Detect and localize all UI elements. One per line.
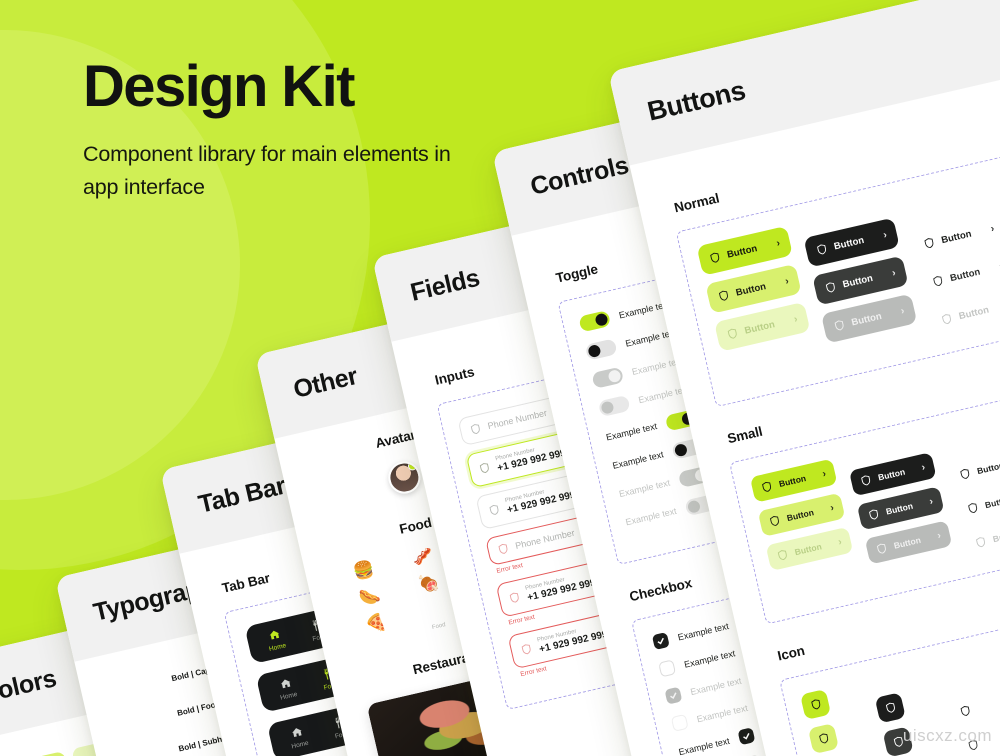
design-kit-poster: Design Kit Component library for main el… xyxy=(0,0,1000,756)
icon-button-ghost[interactable] xyxy=(949,696,980,727)
button-small-secondary-disabled: Button › xyxy=(865,520,953,564)
buttons-small-column-ghost: Button › Button › Button › xyxy=(948,446,1000,558)
buttons-column-ghost: Button › Button › Button › xyxy=(911,211,1000,337)
tab-home[interactable]: Home xyxy=(276,722,320,753)
shield-icon xyxy=(809,697,822,711)
shield-icon xyxy=(923,236,936,250)
checkbox-label: Example text xyxy=(696,702,749,723)
food-icon-burger[interactable]: 🍔 xyxy=(351,560,375,581)
chevron-right-icon: › xyxy=(891,267,897,278)
checkbox-disabled-checked xyxy=(664,687,682,705)
card-other-title: Other xyxy=(291,361,361,404)
shield-icon xyxy=(815,242,828,256)
shield-icon xyxy=(824,280,837,294)
card-controls-title: Controls xyxy=(528,151,632,202)
buttons-column-green: Button › Button › Button › xyxy=(697,226,811,352)
food-icon-hotdog[interactable]: 🌭 xyxy=(357,586,381,607)
avatar[interactable] xyxy=(385,458,423,496)
button-label: Button xyxy=(778,471,817,489)
chevron-right-icon: › xyxy=(821,468,827,479)
icon-buttons-column-dark xyxy=(875,692,922,756)
checkbox-checked[interactable] xyxy=(652,632,670,650)
avatar-status-badge xyxy=(407,461,418,472)
shield-icon xyxy=(708,251,721,265)
toggle-label: Example text xyxy=(618,478,671,499)
button-label: Button xyxy=(833,231,878,252)
chevron-right-icon: › xyxy=(793,313,799,324)
button-label: Button xyxy=(786,505,825,523)
button-label: Button xyxy=(842,269,887,290)
toggle-label: Example text xyxy=(612,449,665,470)
chevron-right-icon: › xyxy=(900,305,906,316)
buttons-small-column-green: Button › Button › Button › xyxy=(750,459,853,571)
shield-icon xyxy=(469,422,482,436)
shield-icon xyxy=(958,467,971,481)
food-icon-meat[interactable]: 🍖 xyxy=(417,573,441,594)
tab-label: Home xyxy=(268,642,286,653)
input-placeholder: Phone Number xyxy=(487,408,548,431)
checkbox-label: Example text xyxy=(678,735,731,756)
chevron-right-icon: › xyxy=(936,530,942,541)
icon-button-primary-hover[interactable] xyxy=(808,723,839,754)
toggle-switch-off[interactable] xyxy=(585,338,618,360)
shield-icon xyxy=(717,289,730,303)
button-label: Button xyxy=(976,458,1000,476)
shield-icon xyxy=(817,732,830,746)
buttons-column-dark: Button › Button › Button › xyxy=(803,218,917,344)
button-label: Button xyxy=(726,240,771,261)
shield-icon xyxy=(478,461,491,475)
checkbox-label: Example text xyxy=(683,648,736,669)
shield-icon xyxy=(497,542,510,556)
chevron-right-icon: › xyxy=(882,229,888,240)
buttons-small-grid: Button › Button › Button › xyxy=(750,408,1000,602)
button-small-ghost[interactable]: Button › xyxy=(948,446,1000,490)
shield-icon xyxy=(488,503,501,517)
shield-icon xyxy=(520,642,533,656)
toggle-switch-disabled-off xyxy=(598,395,631,417)
toggle-label: Example text xyxy=(605,421,658,442)
toggle-switch-on[interactable] xyxy=(578,310,611,332)
tab-home[interactable]: Home xyxy=(254,624,298,655)
icon-button-primary[interactable] xyxy=(800,689,831,720)
shield-icon xyxy=(931,274,944,288)
button-label: Button xyxy=(850,307,895,328)
shield-icon xyxy=(940,312,953,326)
checkbox-checked[interactable] xyxy=(737,727,755,745)
icon-button-secondary[interactable] xyxy=(875,692,906,723)
page-title: Design Kit xyxy=(83,57,483,116)
button-label: Button xyxy=(893,532,932,550)
shield-icon xyxy=(508,591,521,605)
input-placeholder: Phone Number xyxy=(514,528,575,551)
toggle-switch-disabled-on xyxy=(591,367,624,389)
chevron-right-icon: › xyxy=(920,461,926,472)
shield-icon xyxy=(833,318,846,332)
tab-label: Home xyxy=(280,691,298,702)
icon-buttons-column-green xyxy=(800,689,847,756)
chevron-right-icon: › xyxy=(829,502,835,513)
button-label: Button xyxy=(735,278,780,299)
tab-home[interactable]: Home xyxy=(265,673,309,704)
tab-label: Home xyxy=(291,740,309,751)
button-label: Button xyxy=(984,492,1000,510)
card-fields-title: Fields xyxy=(408,263,483,307)
button-label: Button xyxy=(958,301,1000,322)
button-label: Button xyxy=(992,526,1000,544)
checkbox-unchecked[interactable] xyxy=(658,659,676,677)
shield-icon xyxy=(726,327,739,341)
shield-icon xyxy=(760,480,773,494)
buttons-small-column-dark: Button › Button › Button › xyxy=(849,452,952,564)
button-label: Button xyxy=(744,316,789,337)
checkbox-label: Example text xyxy=(677,621,730,642)
toggle-label: Example text xyxy=(625,506,678,527)
chevron-right-icon: › xyxy=(837,536,843,547)
shield-icon xyxy=(859,473,872,487)
card-colors-title: Colors xyxy=(0,664,59,710)
button-label: Button xyxy=(877,464,916,482)
button-small-primary-disabled: Button › xyxy=(766,527,854,571)
shield-icon xyxy=(974,535,987,549)
chevron-right-icon: › xyxy=(990,223,996,234)
chevron-right-icon: › xyxy=(784,275,790,286)
food-icon-bacon[interactable]: 🥓 xyxy=(410,546,434,567)
food-icon-pizza-2[interactable]: 🍕 xyxy=(364,613,388,634)
shield-icon xyxy=(776,548,789,562)
checkbox-disabled-unchecked xyxy=(671,714,689,732)
shield-icon xyxy=(966,501,979,515)
shield-icon xyxy=(958,704,971,718)
shield-icon xyxy=(875,542,888,556)
hero-block: Design Kit Component library for main el… xyxy=(83,57,483,204)
button-label: Button xyxy=(940,225,985,246)
chevron-right-icon: › xyxy=(928,496,934,507)
shield-icon xyxy=(867,507,880,521)
buttons-normal-grid: Button › Button › Button › xyxy=(697,177,1000,385)
chevron-right-icon: › xyxy=(775,237,781,248)
button-label: Button xyxy=(794,539,833,557)
button-label: Button xyxy=(949,263,994,284)
page-subtitle: Component library for main elements in a… xyxy=(83,138,483,203)
shield-icon xyxy=(768,514,781,528)
checkbox-label: Example text xyxy=(689,675,742,696)
card-buttons-title: Buttons xyxy=(645,75,749,128)
watermark: uiscxz.com xyxy=(903,726,992,746)
color-swatch[interactable] xyxy=(34,751,70,756)
button-label: Button xyxy=(885,498,924,516)
card-tabbar-title: Tab Bar xyxy=(196,471,289,519)
shield-icon xyxy=(884,701,897,715)
